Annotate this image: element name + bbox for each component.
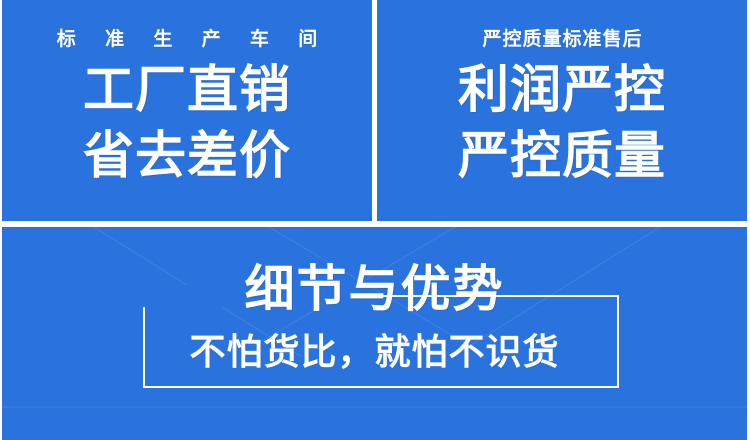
details-title: 细节与优势 (2, 260, 747, 318)
panel-headline-line1-quality-control: 利润严控 (458, 57, 666, 123)
panel-eyebrow-quality-control: 严控质量标准售后 (481, 30, 642, 49)
panel-headline-line2-quality-control: 严控质量 (458, 123, 666, 189)
panel-quality-control: 严控质量标准售后 利润严控 严控质量 (377, 0, 747, 221)
promo-banner: 标 准 生 产 车 间 工厂直销 省去差价 严控质量标准售后 利润严控 严控质量 (0, 0, 750, 440)
top-panel-row: 标 准 生 产 车 间 工厂直销 省去差价 严控质量标准售后 利润严控 严控质量 (0, 0, 750, 221)
panel-details-advantages: 细节与优势 不怕货比，就怕不识货 (2, 227, 747, 440)
panel-headline-line2-factory-direct: 省去差价 (83, 123, 291, 189)
panel-factory-direct: 标 准 生 产 车 间 工厂直销 省去差价 (2, 0, 372, 221)
panel-eyebrow-factory-direct: 标 准 生 产 车 间 (45, 30, 329, 49)
panel-headline-line1-factory-direct: 工厂直销 (83, 57, 291, 123)
details-subtitle: 不怕货比，就怕不识货 (2, 330, 747, 374)
